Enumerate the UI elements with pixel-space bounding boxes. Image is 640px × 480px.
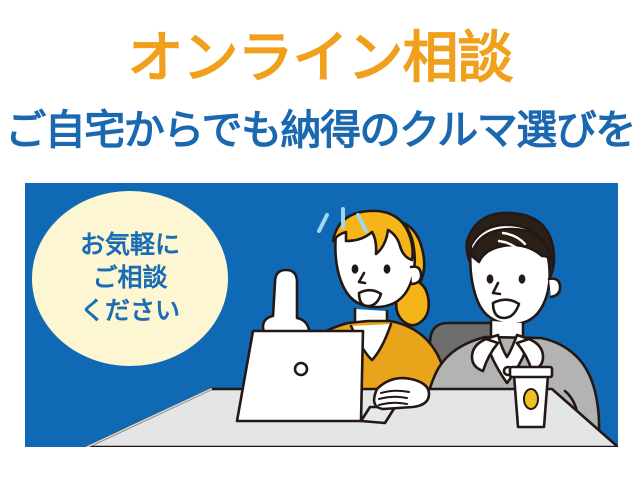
badge-line-2: ご相談 [92,262,167,295]
consultation-badge: お気軽に ご相談 ください [32,191,228,366]
online-consultation-banner: オンライン相談 ご自宅からでも納得のクルマ選びを [0,0,640,480]
page-subtitle: ご自宅からでも納得のクルマ選びを [0,110,640,151]
woman-eye-right [384,264,391,273]
badge-line-3: ください [80,295,180,328]
laptop-camera-dot [295,363,307,375]
man-ear [549,279,560,297]
woman-ear [411,267,421,284]
badge-line-1: お気軽に [80,229,180,262]
illustration-panel: お気軽に ご相談 ください [25,183,618,447]
man-eye-right [519,274,526,283]
man-eye-left [487,274,494,283]
coffee-cup-lid [510,367,552,377]
woman-eye-left [352,264,359,273]
page-title: オンライン相談 [0,30,640,86]
coffee-cup-logo [524,389,538,409]
